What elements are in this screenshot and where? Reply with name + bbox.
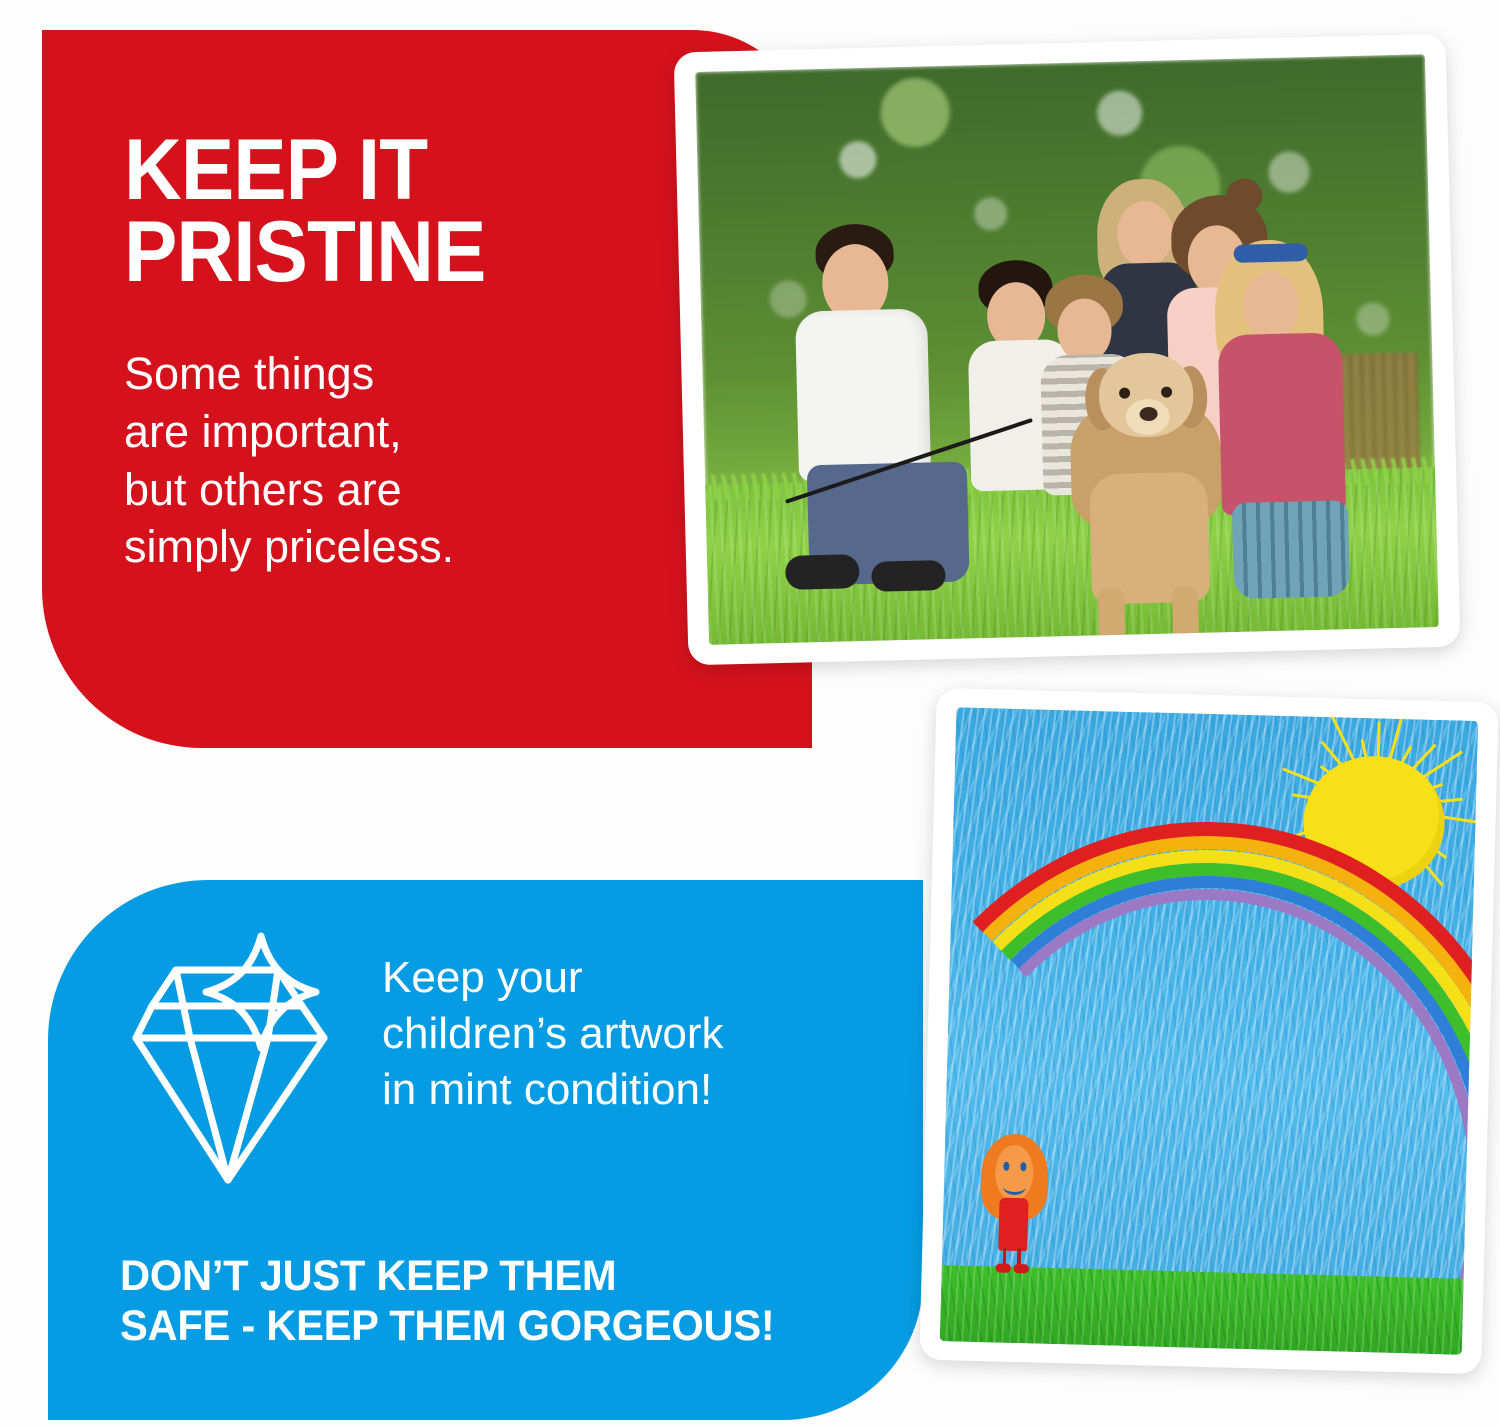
family-photo-card	[674, 34, 1461, 666]
blue-panel-body: Keep your children’s artwork in mint con…	[382, 928, 724, 1118]
drawing-girl-figure	[978, 1133, 1049, 1274]
blue-panel-kicker: DON’T JUST KEEP THEM SAFE - KEEP THEM GO…	[120, 1252, 774, 1352]
page-title: KEEP IT PRISTINE	[124, 130, 626, 293]
diamond-sparkle-icon	[118, 928, 348, 1196]
marketing-graphic: KEEP IT PRISTINE Some things are importa…	[0, 0, 1500, 1427]
family-photo-image	[695, 54, 1439, 645]
childs-drawing-card	[919, 688, 1498, 1374]
blue-panel: Keep your children’s artwork in mint con…	[48, 880, 923, 1420]
red-panel-subcopy: Some things are important, but others ar…	[124, 345, 664, 575]
childs-drawing-image	[940, 707, 1478, 1354]
blue-panel-copy: Keep your children’s artwork in mint con…	[118, 928, 724, 1196]
red-panel-copy: KEEP IT PRISTINE Some things are importa…	[124, 130, 664, 576]
drawing-grass	[940, 1265, 1464, 1355]
